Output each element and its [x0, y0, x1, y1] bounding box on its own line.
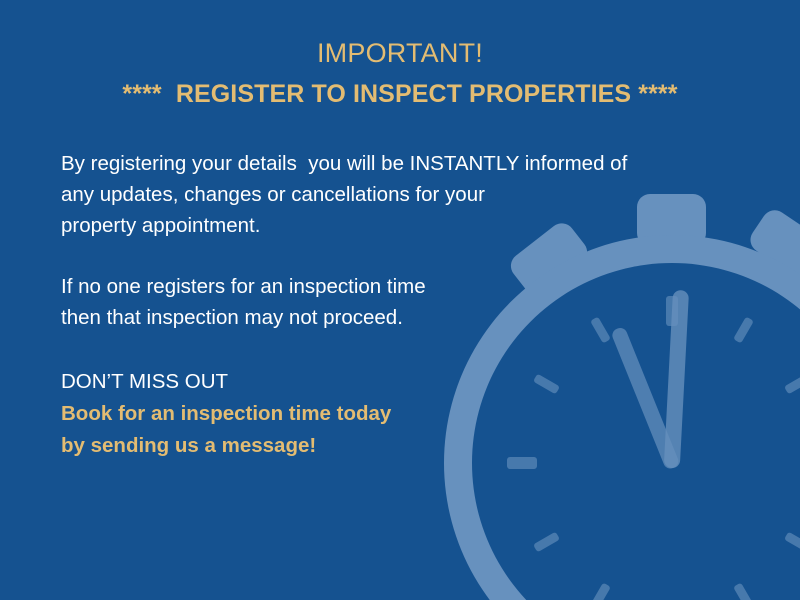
headline-block: IMPORTANT! **** REGISTER TO INSPECT PROP…: [0, 36, 800, 110]
body-block: By registering your details you will be …: [61, 148, 721, 333]
headline-register: **** REGISTER TO INSPECT PROPERTIES ****: [0, 78, 800, 110]
cta-block: DON’T MISS OUT Book for an inspection ti…: [61, 366, 581, 462]
body-paragraph-1: By registering your details you will be …: [61, 148, 721, 241]
text-layer: IMPORTANT! **** REGISTER TO INSPECT PROP…: [0, 0, 800, 600]
cta-send-message: by sending us a message!: [61, 430, 581, 462]
cta-dont-miss-out: DON’T MISS OUT: [61, 366, 581, 398]
headline-important: IMPORTANT!: [0, 36, 800, 70]
cta-book-inspection: Book for an inspection time today: [61, 398, 581, 430]
slide-canvas: IMPORTANT! **** REGISTER TO INSPECT PROP…: [0, 0, 800, 600]
body-paragraph-2: If no one registers for an inspection ti…: [61, 271, 721, 333]
